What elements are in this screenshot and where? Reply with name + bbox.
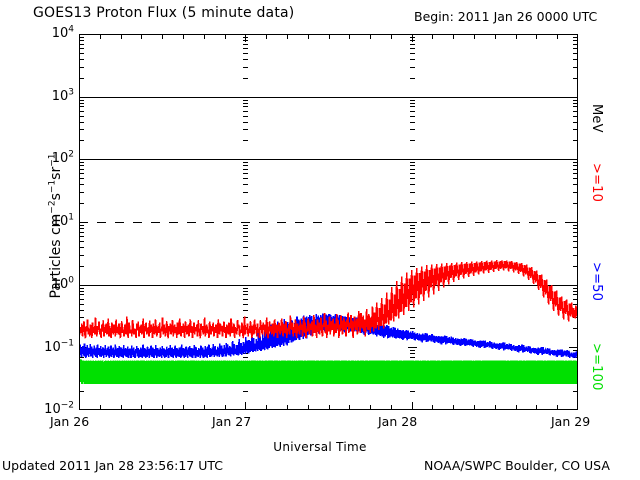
y-tick-label-1e3: 103: [52, 89, 74, 104]
x-tick-label-1: Jan 27: [212, 414, 251, 429]
plot-area: [79, 34, 578, 410]
y-tick-label-1e2: 102: [52, 151, 74, 166]
flux-plot-svg: [79, 34, 578, 410]
y-tick-label-1e1: 101: [52, 214, 74, 229]
y-tick-label-1em1: 10−1: [44, 340, 74, 355]
footer-updated-text: Updated 2011 Jan 28 23:56:17 UTC: [2, 458, 223, 473]
x-tick-label-0: Jan 26: [50, 414, 89, 429]
y-tick-label-1e4: 104: [52, 26, 74, 41]
legend-units-mev: MeV: [589, 104, 604, 133]
x-tick-label-3: Jan 29: [551, 414, 590, 429]
footer-source-text: NOAA/SWPC Boulder, CO USA: [424, 458, 610, 473]
legend-ge-100-mev: >=100: [589, 343, 604, 391]
legend-ge-10-mev: >=10: [589, 163, 604, 202]
x-tick-label-2: Jan 28: [378, 414, 417, 429]
data-series-group: [79, 260, 578, 384]
y-tick-label-1e0: 100: [52, 277, 74, 292]
gridlines-group: [79, 98, 578, 286]
begin-time-label: Begin: 2011 Jan 26 0000 UTC: [414, 9, 597, 24]
goes-proton-flux-chart: GOES13 Proton Flux (5 minute data) Begin…: [0, 0, 640, 480]
legend-ge-50-mev: >=50: [589, 262, 604, 301]
page-title: GOES13 Proton Flux (5 minute data): [33, 5, 294, 21]
x-axis-title: Universal Time: [0, 440, 640, 454]
